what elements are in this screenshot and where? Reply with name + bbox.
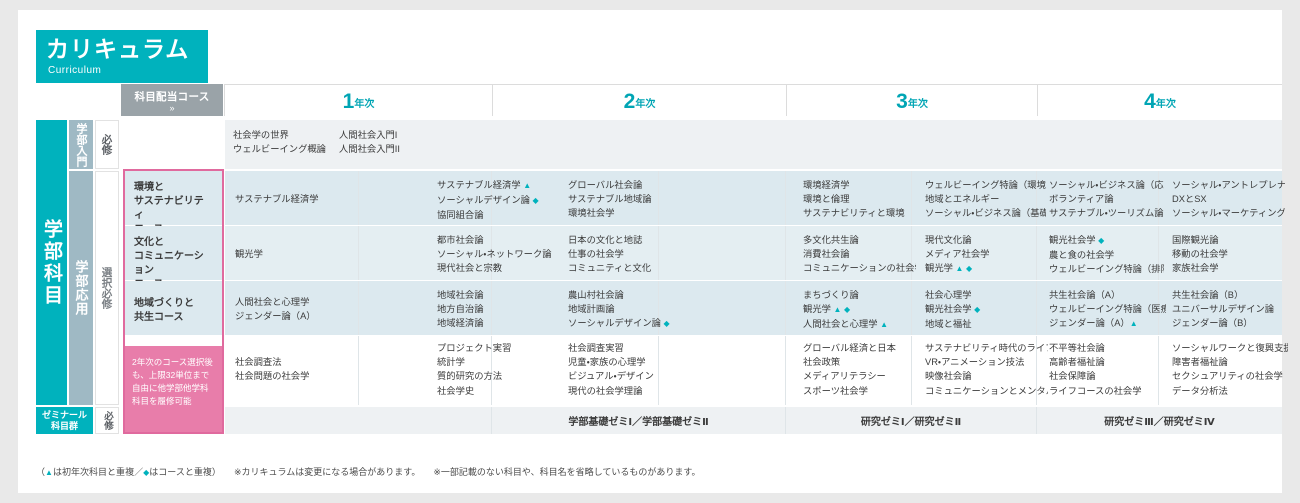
sidebar-label-hissyu-zemi: 必修 <box>95 407 119 434</box>
course-item: DXとSX <box>1172 192 1285 206</box>
cell-a-y3a: 環境経済学 環境と倫理 サステナビリティと環境 <box>794 178 916 221</box>
overlap-triangle-icon: ▲ <box>1130 319 1138 328</box>
cell-a-y1: サステナブル経済学 <box>226 192 356 206</box>
course-item: 地域経済論 <box>437 316 556 330</box>
title-block: カリキュラム Curriculum <box>36 30 208 83</box>
course-item: ウェルビーイング特論（環境問題史） <box>925 178 1046 192</box>
sidebar-label-sentaku-hissyu: 選択必修 <box>95 171 119 405</box>
course-item: 共生社会論（B） <box>1172 288 1285 302</box>
overlap-triangle-icon: ▲ <box>523 181 531 190</box>
course-item: ソーシャル・ネットワーク論 <box>437 247 556 261</box>
course-item: 社会学史 <box>437 384 556 398</box>
course-item: ジェンダー論（B） <box>1172 316 1285 330</box>
course-item: ソーシャル・マーケティング論 <box>1172 206 1285 220</box>
course-name-b[interactable]: 文化と コミュニケーション コース <box>125 226 222 280</box>
year-suffix: 年次 <box>354 99 374 110</box>
overlap-diamond-icon: ◆ <box>1098 236 1104 245</box>
cell-common-y4a: 不平等社会論 高齢者福祉論 社会保障論 ライフコースの社会学 <box>1040 341 1164 398</box>
course-item: グローバル社会論 <box>568 178 684 192</box>
course-item: 社会学の世界 <box>233 128 330 142</box>
course-item: 人間社会と心理学 <box>235 295 356 309</box>
course-item: 環境と倫理 <box>803 192 916 206</box>
footnote-note-1: ※カリキュラムは変更になる場合があります。 <box>234 467 420 477</box>
cell-c-y4b: 共生社会論（B） ユニバーサルデザイン論 ジェンダー論（B） <box>1163 288 1285 331</box>
overlap-diamond-icon: ◆ <box>143 468 149 477</box>
overlap-diamond-icon: ◆ <box>664 319 670 328</box>
year-number: 1 <box>343 90 355 113</box>
course-item: ビジュアル・デザイン <box>568 369 689 383</box>
year-suffix: 年次 <box>1156 99 1176 110</box>
course-item: ジェンダー論（A） <box>235 309 356 323</box>
course-item: 地域と福祉 <box>925 317 1046 331</box>
course-item: 統計学 <box>437 355 556 369</box>
course-item: 不平等社会論 <box>1049 341 1164 355</box>
cell-b-y3a: 多文化共生論 消費社会論 コミュニケーションの社会学 <box>794 233 916 276</box>
course-item: プロジェクト実習 <box>437 341 556 355</box>
overlap-diamond-icon: ◆ <box>974 305 980 314</box>
cell-a-y2a: サステナブル経済学 ▲ ソーシャルデザイン論 ◆ 協同組合論 <box>428 178 556 223</box>
course-item: 障害者福祉論 <box>1172 355 1288 369</box>
course-item: メディアリテラシー <box>803 369 916 383</box>
course-item: ソーシャルデザイン論 ◆ <box>437 193 556 208</box>
course-item: 共生社会論（A） <box>1049 288 1166 302</box>
course-item: 地域計画論 <box>568 302 694 316</box>
sidebar-label-zeminar-group: ゼミナール 科目群 <box>36 407 93 434</box>
course-item: 人間社会入門I <box>339 128 450 142</box>
course-item: 都市社会論 <box>437 233 556 247</box>
course-item: 現代社会と宗教 <box>437 261 556 275</box>
year-header-4: 4年次 <box>1037 84 1282 116</box>
course-item: 観光社会学 ◆ <box>925 302 1046 317</box>
course-item: 仕事の社会学 <box>568 247 684 261</box>
cell-c-y3b: 社会心理学 観光社会学 ◆ 地域と福祉 <box>916 288 1046 332</box>
course-item: 観光学 ▲ ◆ <box>925 261 1046 276</box>
seminar-cell-year3: 研究ゼミⅠ／研究ゼミⅡ <box>786 407 1036 434</box>
cell-common-y3b: サステナビリティ時代のライフシフト論 VR・アニメーション技法 映像社会論 コミ… <box>916 341 1048 398</box>
course-item: スポーツ社会学 <box>803 384 916 398</box>
course-item: 農と食の社会学 <box>1049 248 1164 262</box>
overlap-diamond-icon: ◆ <box>844 305 850 314</box>
page-title: カリキュラム <box>46 36 189 62</box>
seminar-cell-year1 <box>224 407 491 434</box>
row-separator-3 <box>125 280 1282 281</box>
cell-b-y2b: 日本の文化と地誌 仕事の社会学 コミュニティと文化 <box>559 233 684 276</box>
overlap-diamond-icon: ◆ <box>533 196 539 205</box>
course-item: 国際観光論 <box>1172 233 1285 247</box>
cell-c-y2b: 農山村社会論 地域計画論 ソーシャルデザイン論 ◆ <box>559 288 694 332</box>
cell-a-y2b: グローバル社会論 サステナブル地域論 環境社会学 <box>559 178 684 221</box>
year-suffix: 年次 <box>635 99 655 110</box>
course-name-c[interactable]: 地域づくりと 共生コース <box>125 281 222 335</box>
course-item: 社会保障論 <box>1049 369 1164 383</box>
course-item: 環境経済学 <box>803 178 916 192</box>
course-item: 社会調査法 <box>235 355 356 369</box>
row-separator-2 <box>125 225 1282 226</box>
cell-b-y3b: 現代文化論 メディア社会学 観光学 ▲ ◆ <box>916 233 1046 277</box>
course-item: 社会問題の社会学 <box>235 369 356 383</box>
course-item: 人間社会と心理学 ▲ <box>803 317 916 332</box>
year-number: 4 <box>1144 90 1156 113</box>
course-item: ソーシャル・アントレプレナーシップ論 <box>1172 178 1285 192</box>
row-separator-4 <box>125 335 1282 336</box>
course-item: グローバル経済と日本 <box>803 341 916 355</box>
course-item: 観光学 ▲ ◆ <box>803 302 916 317</box>
course-item: 映像社会論 <box>925 369 1048 383</box>
course-item: ウェルビーイング特論（排除・包摂） <box>1049 262 1164 276</box>
cell-c-y2a: 地域社会論 地方自治論 地域経済論 <box>428 288 556 331</box>
overlap-triangle-icon: ▲ <box>956 264 964 273</box>
course-item: コミュニケーションとメンタルヘルス <box>925 384 1048 398</box>
course-item: 社会政策 <box>803 355 916 369</box>
course-item: 農山村社会論 <box>568 288 694 302</box>
course-item: 環境社会学 <box>568 206 684 220</box>
footnote: （▲は初年次科目と重複／◆はコースと重複） ※カリキュラムは変更になる場合があり… <box>36 465 700 478</box>
course-item: ソーシャル・ビジネス論（応用） <box>1049 178 1164 192</box>
course-item: サステナブル経済学 ▲ <box>437 178 556 193</box>
course-item: 観光学 <box>235 247 356 261</box>
course-column-header[interactable]: 科目配当コース » <box>121 84 223 116</box>
cell-common-y2b: 社会調査実習 児童・家族の心理学 ビジュアル・デザイン 現代の社会学理論 <box>559 341 689 398</box>
overlap-triangle-icon: ▲ <box>880 320 888 329</box>
course-item: サステナブル・ツーリズム論 <box>1049 206 1164 220</box>
course-item: ウェルビーイング特論（医療福祉） <box>1049 302 1166 316</box>
course-item: セクシュアリティの社会学 <box>1172 369 1288 383</box>
footnote-note-2: ※一部記載のない科目や、科目名を省略しているものがあります。 <box>433 467 700 477</box>
course-item: 高齢者福祉論 <box>1049 355 1164 369</box>
course-item: 日本の文化と地誌 <box>568 233 684 247</box>
cell-a-y4a: ソーシャル・ビジネス論（応用） ボランティア論 サステナブル・ツーリズム論 <box>1040 178 1164 221</box>
divider-y1-mid <box>358 171 359 405</box>
cell-a-y3b: ウェルビーイング特論（環境問題史） 地域とエネルギー ソーシャル・ビジネス論（基… <box>916 178 1046 221</box>
sidebar-label-gakubu-ouyou: 学部応用 <box>69 171 93 405</box>
cell-common-y1: 社会調査法 社会問題の社会学 <box>226 355 356 383</box>
course-item: 消費社会論 <box>803 247 916 261</box>
course-name-a[interactable]: 環境と サステナビリティ コース <box>125 171 222 225</box>
seminar-cell-year4: 研究ゼミⅢ／研究ゼミⅣ <box>1037 407 1282 434</box>
course-item: ライフコースの社会学 <box>1049 384 1164 398</box>
cell-c-y1: 人間社会と心理学 ジェンダー論（A） <box>226 295 356 323</box>
year-header-3: 3年次 <box>786 84 1037 116</box>
course-item: ソーシャルワークと復興支援 <box>1172 341 1288 355</box>
course-item: サステナビリティと環境 <box>803 206 916 220</box>
seminar-cell-year2: 学部基礎ゼミⅠ／学部基礎ゼミⅡ <box>492 407 785 434</box>
course-item: 児童・家族の心理学 <box>568 355 689 369</box>
course-item: 現代文化論 <box>925 233 1046 247</box>
overlap-triangle-icon: ▲ <box>45 468 53 477</box>
course-item: ソーシャル・ビジネス論（基礎） <box>925 206 1046 220</box>
course-item: ジェンダー論（A）▲ <box>1049 316 1166 331</box>
course-item: ウェルビーイング概論 <box>233 142 330 156</box>
cell-c-y4a: 共生社会論（A） ウェルビーイング特論（医療福祉） ジェンダー論（A）▲ <box>1040 288 1166 332</box>
course-item: サステナブル経済学 <box>235 192 356 206</box>
course-item: 移動の社会学 <box>1172 247 1285 261</box>
course-item: ボランティア論 <box>1049 192 1164 206</box>
course-item: 地方自治論 <box>437 302 556 316</box>
cell-common-y3a: グローバル経済と日本 社会政策 メディアリテラシー スポーツ社会学 <box>794 341 916 398</box>
cell-common-y4b: ソーシャルワークと復興支援 障害者福祉論 セクシュアリティの社会学 データ分析法 <box>1163 341 1288 398</box>
course-column-header-label: 科目配当コース <box>121 84 223 104</box>
course-item: 家族社会学 <box>1172 261 1285 275</box>
course-item: まちづくり論 <box>803 288 916 302</box>
course-item: 質的研究の方法 <box>437 369 556 383</box>
chevron-down-icon: » <box>121 105 223 112</box>
cell-common-y2a: プロジェクト実習 統計学 質的研究の方法 社会学史 <box>428 341 556 398</box>
cell-b-y4a: 観光社会学 ◆ 農と食の社会学 ウェルビーイング特論（排除・包摂） <box>1040 233 1164 277</box>
sidebar-label-hissyu-intro: 必修 <box>95 120 119 169</box>
course-item: 地域とエネルギー <box>925 192 1046 206</box>
course-item: ソーシャルデザイン論 ◆ <box>568 316 694 331</box>
year-header-2: 2年次 <box>492 84 786 116</box>
course-item: 社会調査実習 <box>568 341 689 355</box>
course-item: 観光社会学 ◆ <box>1049 233 1164 248</box>
sidebar-label-gakubu-nyumon: 学部入門 <box>69 120 93 169</box>
course-item: コミュニティと文化 <box>568 261 684 275</box>
cell-b-y1: 観光学 <box>226 247 356 261</box>
course-item: 人間社会入門II <box>339 142 450 156</box>
course-selection-note: 2年次のコース選択後も、上限32単位まで自由に他学部他学科科目を履修可能 <box>123 346 224 434</box>
overlap-diamond-icon: ◆ <box>966 264 972 273</box>
course-item: コミュニケーションの社会学 <box>803 261 916 275</box>
course-item: 地域社会論 <box>437 288 556 302</box>
course-item: 現代の社会学理論 <box>568 384 689 398</box>
row-separator-1 <box>125 169 1282 170</box>
course-item: VR・アニメーション技法 <box>925 355 1048 369</box>
divider-y2-y3 <box>785 171 786 405</box>
course-item: メディア社会学 <box>925 247 1046 261</box>
course-item: 多文化共生論 <box>803 233 916 247</box>
page-title-english: Curriculum <box>48 65 101 76</box>
year-number: 2 <box>624 90 636 113</box>
curriculum-page: カリキュラム Curriculum 科目配当コース » 1年次 2年次 3年次 … <box>18 10 1282 493</box>
cell-b-y4b: 国際観光論 移動の社会学 家族社会学 <box>1163 233 1285 276</box>
cell-c-y3a: まちづくり論 観光学 ▲ ◆ 人間社会と心理学 ▲ <box>794 288 916 333</box>
course-item: サステナブル地域論 <box>568 192 684 206</box>
cell-intro-y1a: 社会学の世界 ウェルビーイング概論 <box>224 128 330 156</box>
cell-b-y2a: 都市社会論 ソーシャル・ネットワーク論 現代社会と宗教 <box>428 233 556 276</box>
year-suffix: 年次 <box>908 99 928 110</box>
course-item: データ分析法 <box>1172 384 1288 398</box>
course-item: 社会心理学 <box>925 288 1046 302</box>
sidebar-label-gakubu-kamoku: 学部科目 <box>36 120 67 405</box>
year-number: 3 <box>896 90 908 113</box>
course-item: ユニバーサルデザイン論 <box>1172 302 1285 316</box>
cell-intro-y1b: 人間社会入門I 人間社会入門II <box>330 128 450 156</box>
course-item: サステナビリティ時代のライフシフト論 <box>925 341 1048 355</box>
overlap-triangle-icon: ▲ <box>834 305 842 314</box>
year-header-1: 1年次 <box>224 84 492 116</box>
course-item: 協同組合論 <box>437 208 556 222</box>
cell-a-y4b: ソーシャル・アントレプレナーシップ論 DXとSX ソーシャル・マーケティング論 <box>1163 178 1285 221</box>
footnote-legend: （▲は初年次科目と重複／◆はコースと重複） <box>36 467 221 477</box>
